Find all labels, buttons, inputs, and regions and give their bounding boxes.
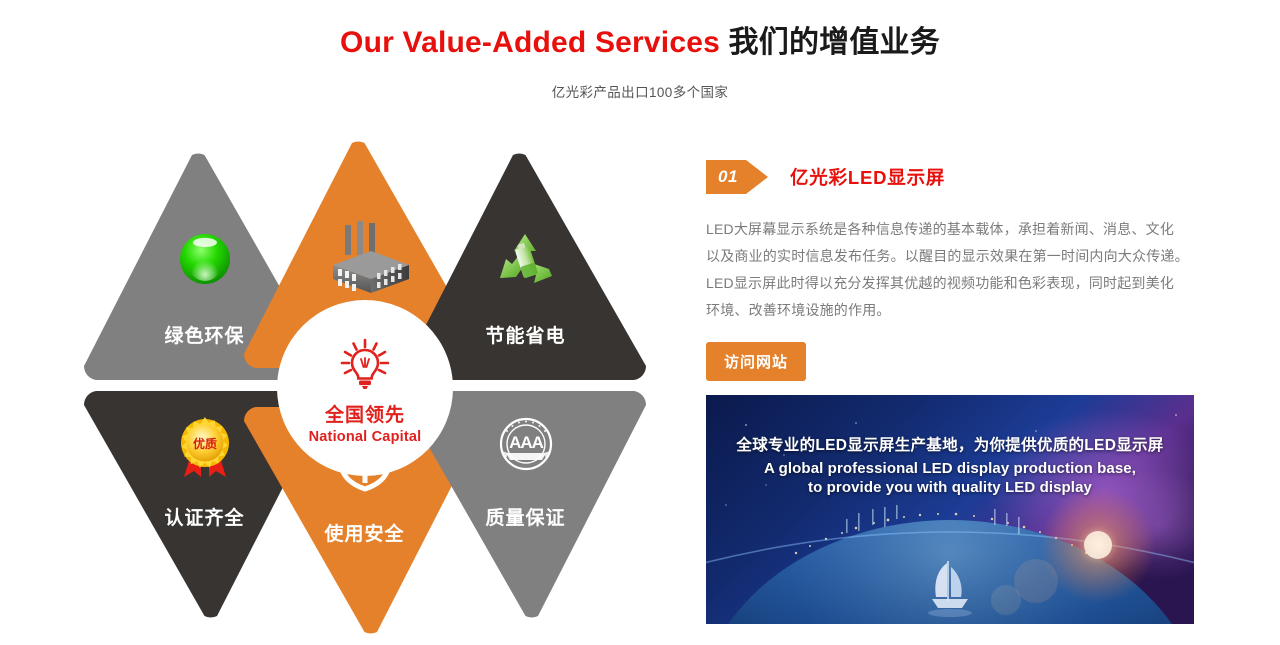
- visit-website-button[interactable]: 访问网站: [706, 342, 806, 381]
- banner-caption: 全球专业的LED显示屏生产基地，为你提供优质的LED显示屏 A global p…: [706, 433, 1194, 496]
- green-sphere-icon: [177, 231, 233, 292]
- paragraph-line: LED大屏幕显示系统是各种信息传递的基本载体，承担着新闻、消息、文化: [706, 216, 1206, 243]
- panel-heading-row: 01 亿光彩LED显示屏: [706, 160, 1206, 194]
- paragraph-line: LED显示屏此时得以充分发挥其优越的视频功能和色彩表现，同时起到美化: [706, 270, 1206, 297]
- banner-caption-en1: A global professional LED display produc…: [706, 460, 1194, 477]
- banner-artwork: [706, 395, 1194, 624]
- page-title-en: Our Value-Added Services: [340, 26, 720, 59]
- panel-number: 01: [706, 160, 750, 194]
- page-header: Our Value-Added Services 我们的增值业务 亿光彩产品出口…: [0, 0, 1280, 101]
- center-title-en: National Capital: [309, 429, 422, 445]
- lightbulb-icon: [337, 337, 393, 398]
- promo-banner[interactable]: 全球专业的LED显示屏生产基地，为你提供优质的LED显示屏 A global p…: [706, 395, 1194, 624]
- panel-number-badge: 01: [706, 160, 768, 194]
- page-root: Our Value-Added Services 我们的增值业务 亿光彩产品出口…: [0, 0, 1280, 645]
- svg-text:优质: 优质: [192, 436, 216, 451]
- value-hexagon-diagram: 绿色环保: [72, 143, 658, 633]
- banner-caption-cn: 全球专业的LED显示屏生产基地，为你提供优质的LED显示屏: [706, 433, 1194, 455]
- paragraph-line: 以及商业的实时信息发布任务。以醒目的显示效果在第一时间内向大众传递。: [706, 243, 1206, 270]
- award-ribbon-icon: 优质: [174, 415, 236, 486]
- center-title-cn: 全国领先: [325, 404, 405, 428]
- svg-text:AAA: AAA: [509, 433, 544, 452]
- page-subtitle: 亿光彩产品出口100多个国家: [0, 59, 1280, 101]
- aaa-seal-icon: AAA: [494, 415, 558, 482]
- panel-heading: 亿光彩LED显示屏: [790, 164, 945, 190]
- page-title: Our Value-Added Services 我们的增值业务: [0, 0, 1280, 59]
- info-panel: 01 亿光彩LED显示屏 LED大屏幕显示系统是各种信息传递的基本载体，承担着新…: [706, 160, 1206, 381]
- banner-caption-en2: to provide you with quality LED display: [706, 479, 1194, 496]
- recycle-battery-icon: [494, 231, 558, 298]
- panel-paragraph: LED大屏幕显示系统是各种信息传递的基本载体，承担着新闻、消息、文化 以及商业的…: [706, 216, 1206, 324]
- page-title-cn: 我们的增值业务: [729, 26, 940, 59]
- paragraph-line: 环境、改善环境设施的作用。: [706, 297, 1206, 324]
- hexagon-center: 全国领先 National Capital: [277, 300, 453, 476]
- hex-label-quality: 质量保证: [399, 503, 652, 530]
